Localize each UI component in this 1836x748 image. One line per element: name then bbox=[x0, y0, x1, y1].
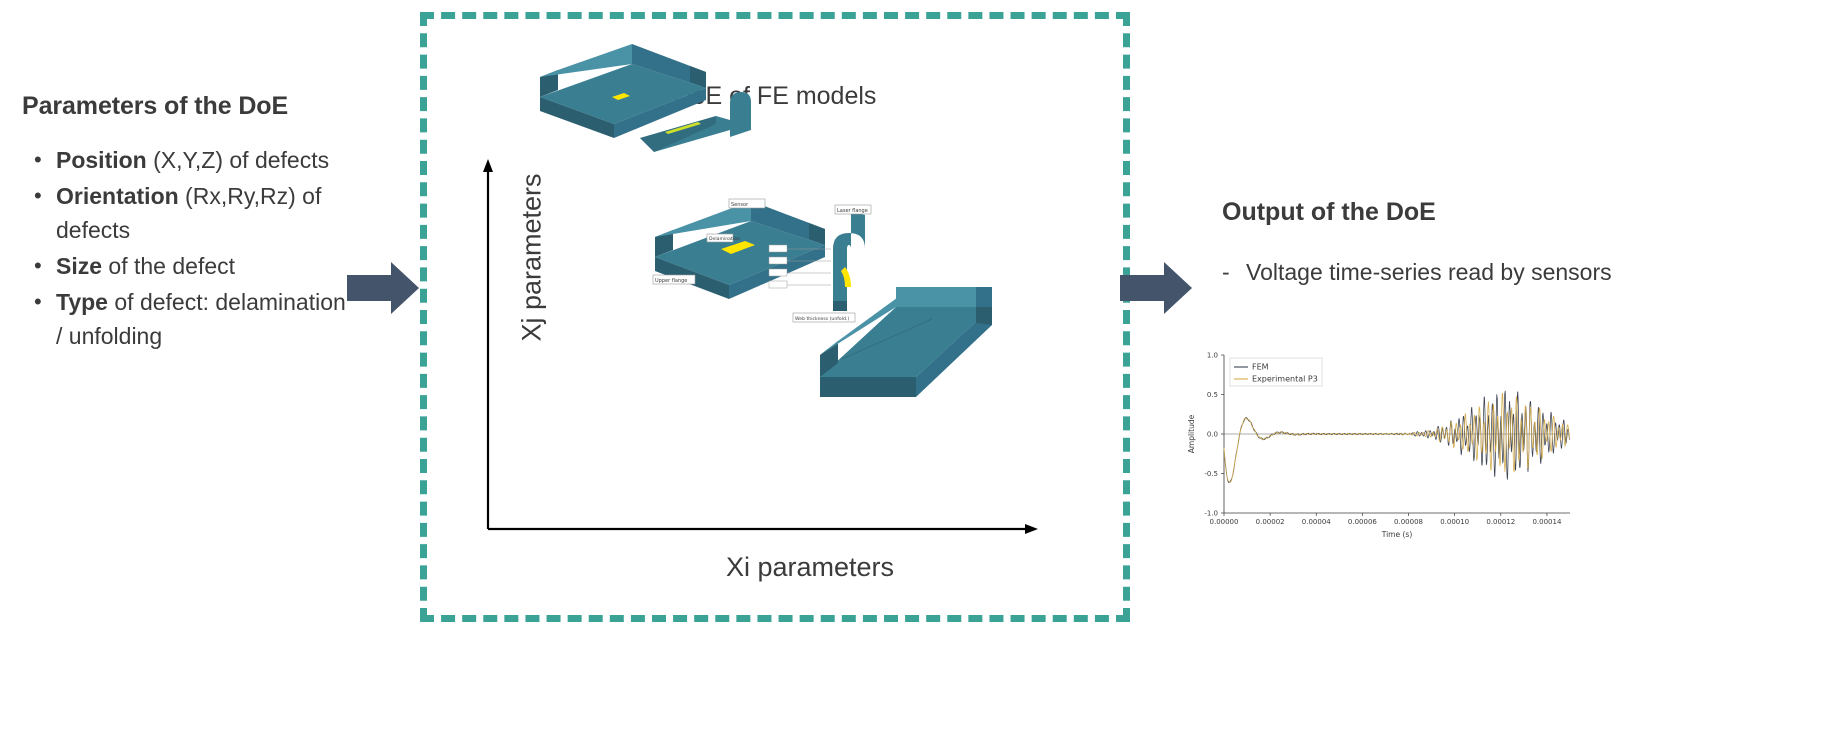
chart-x-tick-label: 0.00006 bbox=[1348, 518, 1377, 526]
list-item-text: Position (X,Y,Z) of defects bbox=[56, 143, 329, 177]
chart-x-tick-label: 0.00014 bbox=[1532, 518, 1561, 526]
chart-svg: 1.00.50.0-0.5-1.0 0.000000.000020.000040… bbox=[1178, 345, 1578, 545]
list-item: - Voltage time-series read by sensors bbox=[1222, 255, 1622, 290]
output-panel: Output of the DoE - Voltage time-series … bbox=[1222, 198, 1622, 290]
bullet-icon: • bbox=[22, 143, 56, 177]
chart-x-tick-label: 0.00012 bbox=[1486, 518, 1515, 526]
output-bullet-text: Voltage time-series read by sensors bbox=[1246, 255, 1612, 290]
list-item: • Type of defect: delamination / unfoldi… bbox=[22, 285, 352, 353]
output-title: Output of the DoE bbox=[1222, 198, 1622, 227]
bullet-icon: • bbox=[22, 179, 56, 213]
chart-legend-label: Experimental P3 bbox=[1252, 375, 1318, 384]
chart-y-tick-label: -0.5 bbox=[1204, 470, 1218, 478]
chart-y-tick-label: -1.0 bbox=[1204, 510, 1218, 518]
dash-icon: - bbox=[1222, 255, 1246, 290]
list-item-strong: Orientation bbox=[56, 183, 179, 209]
voltage-time-series-chart: 1.00.50.0-0.5-1.0 0.000000.000020.000040… bbox=[1178, 345, 1578, 545]
parameters-panel: Parameters of the DoE • Position (X,Y,Z)… bbox=[22, 92, 352, 355]
chart-x-tick-label: 0.00004 bbox=[1302, 518, 1331, 526]
list-item: • Size of the defect bbox=[22, 249, 352, 283]
chart-legend: FEM Experimental P3 bbox=[1230, 358, 1322, 386]
slide-canvas: Parameters of the DoE • Position (X,Y,Z)… bbox=[0, 0, 1836, 748]
chart-x-axis-label: Time (s) bbox=[1381, 530, 1413, 539]
chart-y-tick-label: 0.0 bbox=[1207, 431, 1218, 439]
parameters-title: Parameters of the DoE bbox=[22, 92, 352, 121]
list-item-strong: Size bbox=[56, 253, 102, 279]
list-item-strong: Position bbox=[56, 147, 147, 173]
chart-x-tick-label: 0.00000 bbox=[1210, 518, 1239, 526]
list-item: • Position (X,Y,Z) of defects bbox=[22, 143, 352, 177]
list-item-text: Size of the defect bbox=[56, 249, 235, 283]
arrow-right-to-output bbox=[1120, 262, 1192, 314]
chart-x-tick-label: 0.00008 bbox=[1394, 518, 1423, 526]
chart-y-tick-label: 0.5 bbox=[1207, 391, 1218, 399]
chart-y-tick-label: 1.0 bbox=[1207, 352, 1218, 360]
arrow-right-to-doe bbox=[347, 262, 419, 314]
parameters-bullet-list: • Position (X,Y,Z) of defects • Orientat… bbox=[22, 143, 352, 353]
list-item-text: Orientation (Rx,Ry,Rz) of defects bbox=[56, 179, 352, 247]
list-item-strong: Type bbox=[56, 289, 108, 315]
list-item-text: Type of defect: delamination / unfolding bbox=[56, 285, 352, 353]
bullet-icon: • bbox=[22, 285, 56, 319]
chart-legend-label: FEM bbox=[1252, 363, 1269, 372]
list-item-rest: (X,Y,Z) of defects bbox=[147, 147, 329, 173]
doe-title: DoE of FE models bbox=[420, 82, 1130, 111]
chart-x-tick-label: 0.00010 bbox=[1440, 518, 1469, 526]
chart-x-tick-label: 0.00002 bbox=[1256, 518, 1285, 526]
list-item-rest: of the defect bbox=[102, 253, 235, 279]
list-item: • Orientation (Rx,Ry,Rz) of defects bbox=[22, 179, 352, 247]
bullet-icon: • bbox=[22, 249, 56, 283]
chart-y-axis-label: Amplitude bbox=[1187, 414, 1196, 453]
